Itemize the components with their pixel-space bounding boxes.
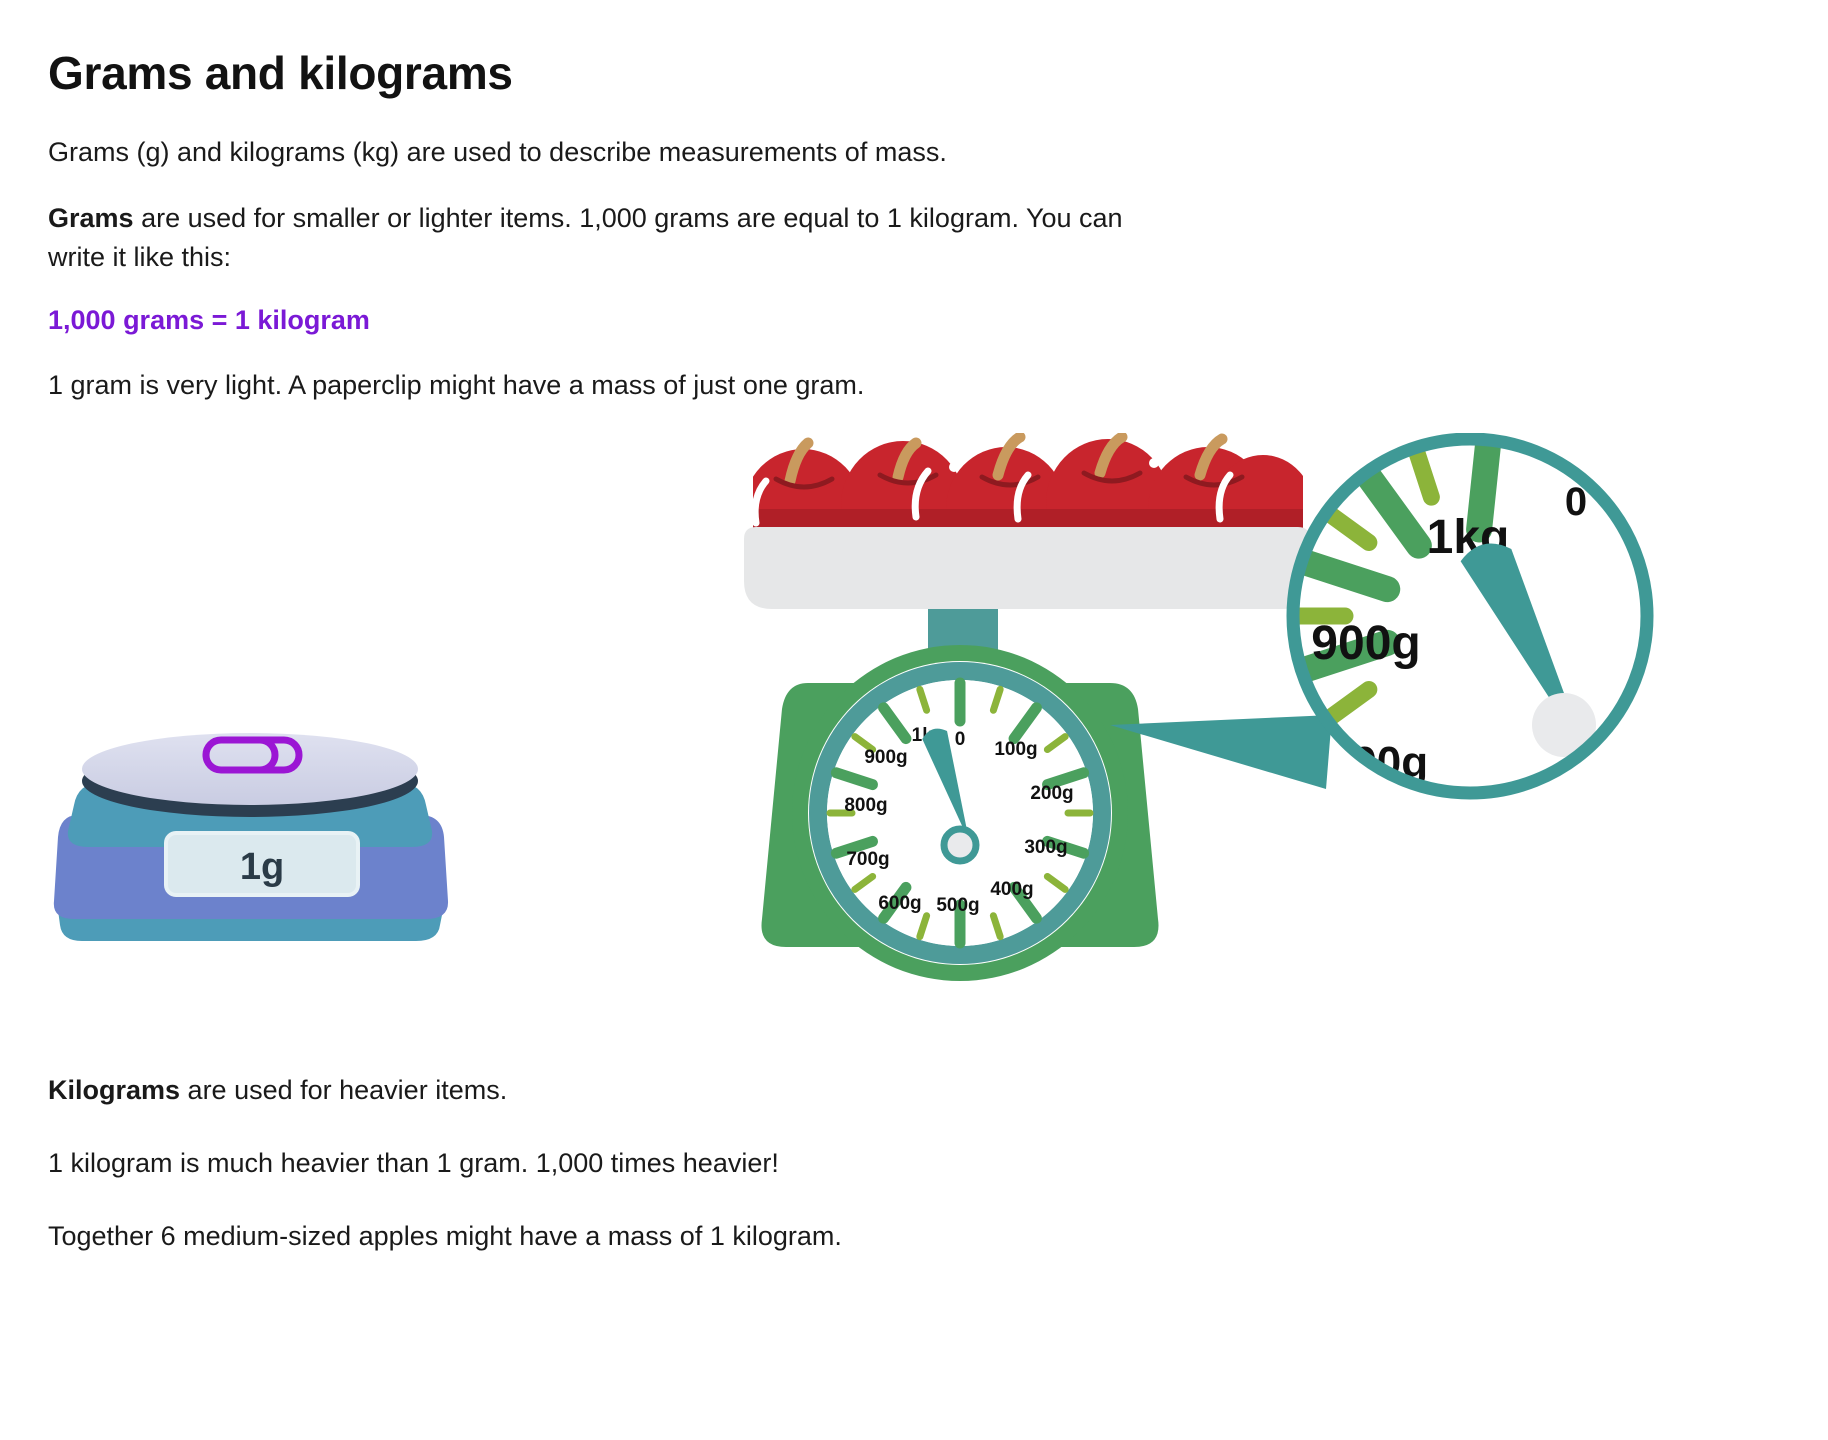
dial-label-900g: 900g xyxy=(864,747,907,768)
grams-paragraph: Grams are used for smaller or lighter it… xyxy=(48,199,1148,277)
dial-label-700g: 700g xyxy=(846,849,889,870)
bottom-text-block: Kilograms are used for heavier items. 1 … xyxy=(48,1071,1780,1256)
mechanical-scale-graphic: 0 100g 200g 300g 400g 500g 600g 700g 800… xyxy=(743,437,1315,981)
magnifier-label-900g: 900g xyxy=(1311,617,1420,670)
kilograms-paragraph: Kilograms are used for heavier items. xyxy=(48,1071,1148,1110)
dial-label-600g: 600g xyxy=(878,893,921,914)
lesson-page: Grams and kilograms Grams (g) and kilogr… xyxy=(0,0,1828,1440)
dial-label-300g: 300g xyxy=(1024,837,1067,858)
scales-illustration: 1g xyxy=(48,433,1828,1053)
dial-label-400g: 400g xyxy=(990,879,1033,900)
kilograms-bold-label: Kilograms xyxy=(48,1075,180,1105)
dial-label-200g: 200g xyxy=(1030,783,1073,804)
heavier-paragraph: 1 kilogram is much heavier than 1 gram. … xyxy=(48,1144,1148,1183)
needle-hub xyxy=(944,829,976,861)
digital-display-value: 1g xyxy=(240,846,284,888)
page-title: Grams and kilograms xyxy=(48,48,1780,99)
dial-label-0: 0 xyxy=(955,729,966,750)
kilograms-rest-text: are used for heavier items. xyxy=(180,1075,507,1105)
grams-rest-text: are used for smaller or lighter items. 1… xyxy=(48,203,1123,272)
dial-label-100g: 100g xyxy=(994,739,1037,760)
digital-scale-graphic: 1g xyxy=(54,733,448,941)
dial-label-800g: 800g xyxy=(844,795,887,816)
apples-paragraph: Together 6 medium-sized apples might hav… xyxy=(48,1217,1148,1256)
scale-tray xyxy=(744,527,1310,609)
scales-svg: 1g xyxy=(48,433,1828,1053)
dial-label-500g: 500g xyxy=(936,895,979,916)
grams-bold-label: Grams xyxy=(48,203,134,233)
intro-paragraph: Grams (g) and kilograms (kg) are used to… xyxy=(48,133,1148,172)
apples-group xyxy=(743,437,1315,609)
paperclip-paragraph: 1 gram is very light. A paperclip might … xyxy=(48,366,1148,405)
scale-post xyxy=(928,609,998,651)
equation-highlight: 1,000 grams = 1 kilogram xyxy=(48,305,1780,336)
